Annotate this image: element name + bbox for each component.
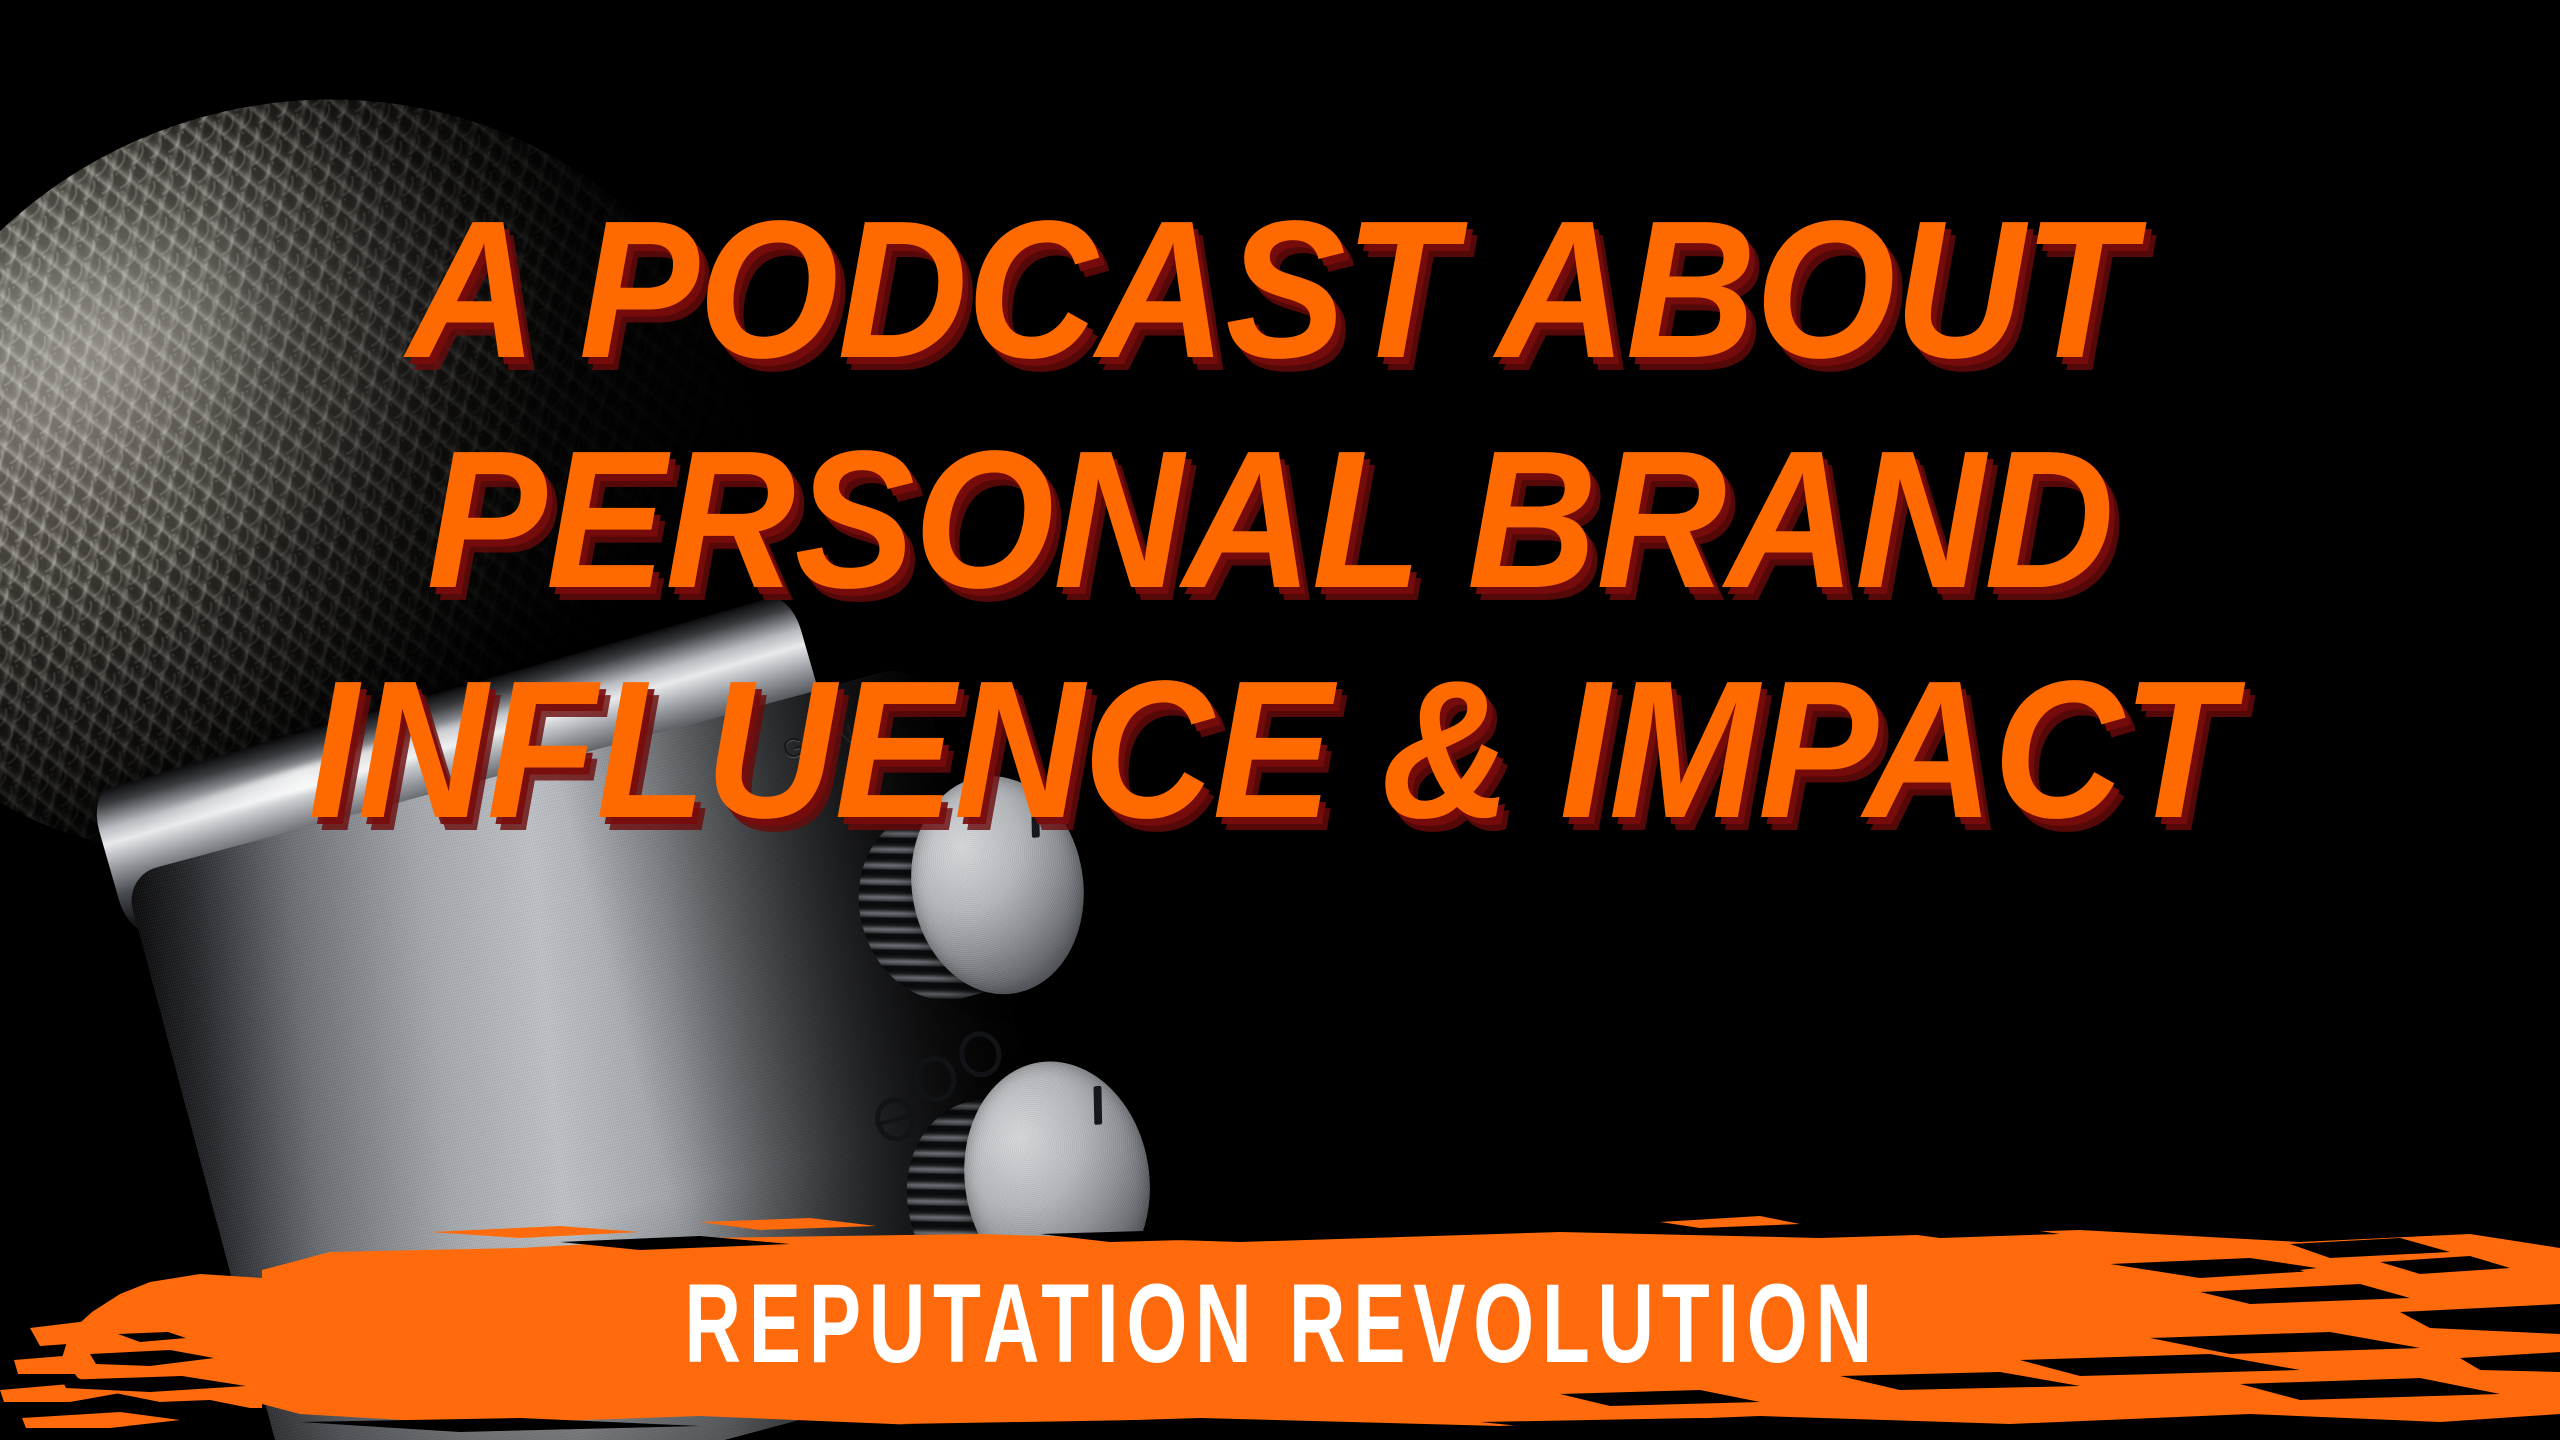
title-line-2: PERSONAL BRAND — [102, 426, 2439, 614]
page-title: A PODCAST ABOUT PERSONAL BRAND INFLUENCE… — [0, 196, 2560, 844]
show-name-banner: REPUTATION REVOLUTION — [0, 1208, 2560, 1440]
title-line-3: INFLUENCE & IMPACT — [102, 656, 2439, 844]
title-line-1: A PODCAST ABOUT — [102, 196, 2439, 384]
podcast-cover-poster: GAIN A PODCAST ABOUT PERSONAL BRAND INFL… — [0, 0, 2560, 1440]
volume-knob-indicator — [1094, 1086, 1103, 1125]
polar-pattern-cardioid-icon — [954, 1027, 1006, 1082]
polar-pattern-omni-icon — [909, 1051, 961, 1106]
show-name-text: REPUTATION REVOLUTION — [384, 1268, 2176, 1380]
